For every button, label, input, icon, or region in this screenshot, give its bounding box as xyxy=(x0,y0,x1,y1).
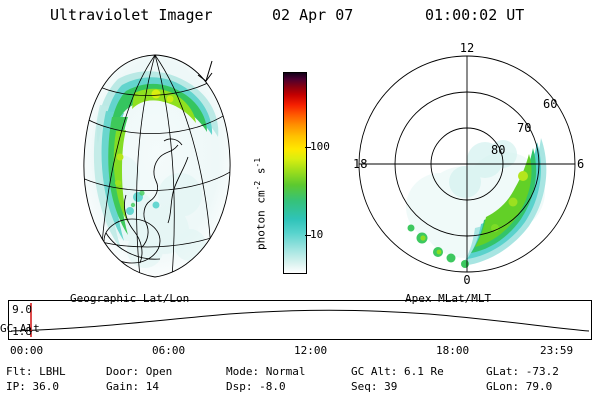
footer-seq-label: Seq: xyxy=(351,380,378,393)
footer-glon-value: 79.0 xyxy=(526,380,553,393)
footer-door-label: Door: xyxy=(106,365,139,378)
footer-glat-label: GLat: xyxy=(486,365,519,378)
footer-gain-label: Gain: xyxy=(106,380,139,393)
footer-row-1: Flt: LBHL Door: Open Mode: Normal GC Alt… xyxy=(6,364,600,379)
apex-dial-svg: 12 18 6 0 60 70 80 xyxy=(345,42,590,287)
time-tick-0000: 00:00 xyxy=(10,344,43,357)
footer-seq-value: 39 xyxy=(384,380,397,393)
footer-gain-value: 14 xyxy=(146,380,159,393)
colorbar-tickmark-100 xyxy=(305,147,311,148)
time-tick-0600: 06:00 xyxy=(152,344,185,357)
earth-disk xyxy=(84,55,230,277)
footer-mode-label: Mode: xyxy=(226,365,259,378)
mlat-label-70: 70 xyxy=(517,121,531,135)
footer-glat: GLat: -73.2 xyxy=(486,364,586,379)
footer-dsp: Dsp: -8.0 xyxy=(226,379,351,394)
time-tick-1800: 18:00 xyxy=(436,344,469,357)
mlat-label-60: 60 xyxy=(543,97,557,111)
footer-gcalt: GC Alt: 6.1 Re xyxy=(351,364,486,379)
altitude-timeline-svg[interactable] xyxy=(9,301,591,339)
apex-dial-panel: 12 18 6 0 60 70 80 xyxy=(345,42,590,287)
footer-ip-value: 36.0 xyxy=(33,380,60,393)
footer-glon-label: GLon: xyxy=(486,380,519,393)
time-tick-1200: 12:00 xyxy=(294,344,327,357)
footer-flt-label: Flt: xyxy=(6,365,33,378)
colorbar-label-sep: s xyxy=(255,168,268,181)
mlt-label-18: 18 xyxy=(353,157,367,171)
colorbar-label-text: photon cm xyxy=(255,190,268,250)
footer-gcalt-label: GC Alt: xyxy=(351,365,397,378)
colorbar-tick-100: 100 xyxy=(310,140,330,153)
altitude-timeline-frame[interactable] xyxy=(8,300,592,340)
geographic-image-panel xyxy=(60,45,260,285)
footer-gain: Gain: 14 xyxy=(106,379,226,394)
footer-mode: Mode: Normal xyxy=(226,364,351,379)
footer-ip-label: IP: xyxy=(6,380,26,393)
colorbar-axis-label: photon cm-2 s-1 xyxy=(253,158,268,250)
colorbar-tickmark-10 xyxy=(305,235,311,236)
colorbar-exp1: -2 xyxy=(253,181,262,191)
footer-flt: Flt: LBHL xyxy=(6,364,106,379)
altitude-curve xyxy=(11,310,589,331)
colorbar xyxy=(283,72,307,274)
status-footer: Flt: LBHL Door: Open Mode: Normal GC Alt… xyxy=(6,364,600,394)
footer-ip: IP: 36.0 xyxy=(6,379,106,394)
mlt-label-12: 12 xyxy=(460,42,474,55)
altitude-axis-title: GC Alt xyxy=(0,322,40,335)
header-time: 01:00:02 UT xyxy=(425,6,524,24)
mlt-label-06: 6 xyxy=(577,157,584,171)
footer-mode-value: Normal xyxy=(266,365,306,378)
footer-glat-value: -73.2 xyxy=(526,365,559,378)
footer-seq: Seq: 39 xyxy=(351,379,486,394)
colorbar-tick-10: 10 xyxy=(310,228,323,241)
colorbar-exp2: -1 xyxy=(253,158,262,168)
mlat-label-80: 80 xyxy=(491,143,505,157)
footer-door-value: Open xyxy=(146,365,173,378)
header-instrument: Ultraviolet Imager xyxy=(50,6,213,24)
header-date: 02 Apr 07 xyxy=(272,6,353,24)
footer-glon: GLon: 79.0 xyxy=(486,379,586,394)
footer-door: Door: Open xyxy=(106,364,226,379)
time-tick-2359: 23:59 xyxy=(540,344,573,357)
mlt-label-00: 0 xyxy=(463,273,470,287)
altitude-ytick-high: 9.0 xyxy=(0,303,32,316)
footer-dsp-label: Dsp: xyxy=(226,380,253,393)
footer-gcalt-value: 6.1 Re xyxy=(404,365,444,378)
footer-dsp-value: -8.0 xyxy=(259,380,286,393)
geographic-globe-svg xyxy=(60,45,260,285)
footer-flt-value: LBHL xyxy=(39,365,66,378)
footer-row-2: IP: 36.0 Gain: 14 Dsp: -8.0 Seq: 39 GLon… xyxy=(6,379,600,394)
